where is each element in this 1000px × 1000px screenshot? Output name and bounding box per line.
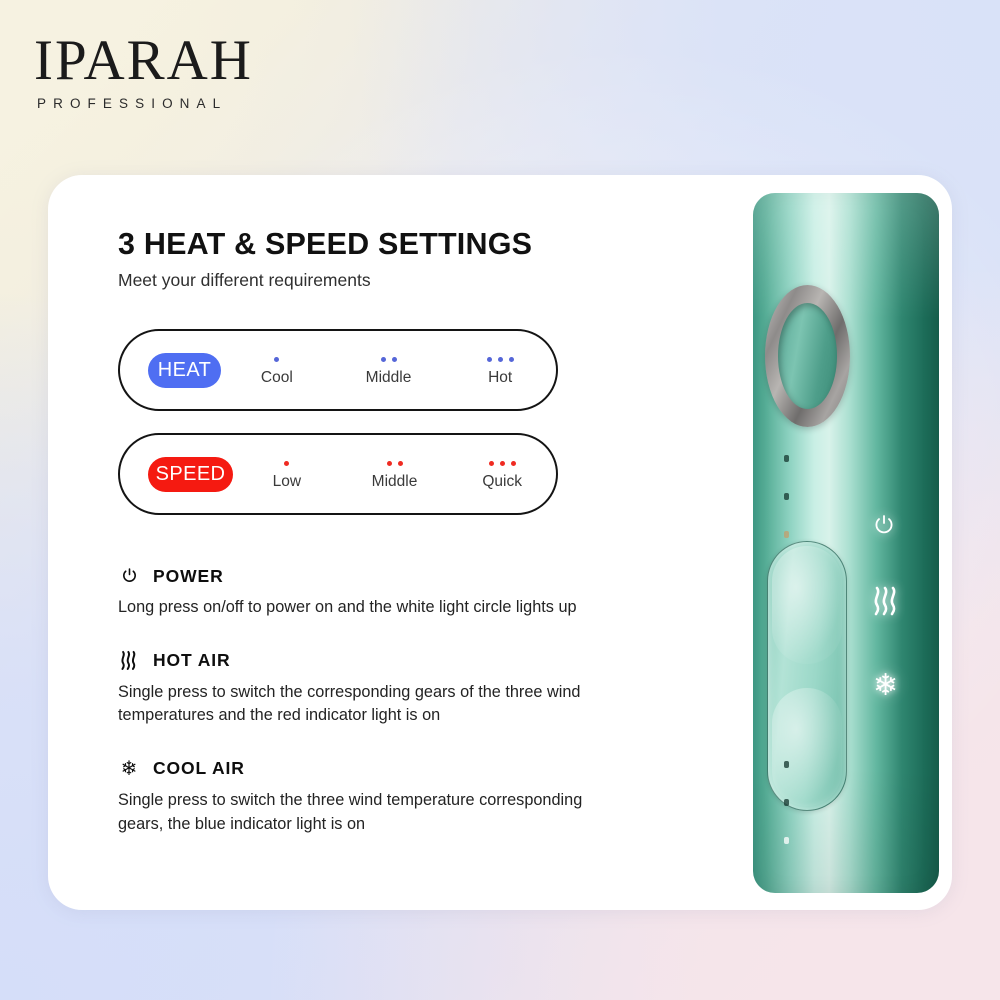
feature-header: ❄ COOL AIR: [118, 758, 638, 780]
product-indicator-dot: [784, 531, 789, 538]
feature-title: POWER: [153, 566, 224, 587]
product-image-hair-dryer: ❄: [753, 193, 939, 893]
feature-description: Single press to switch the corresponding…: [118, 681, 618, 728]
level-label: Low: [273, 473, 301, 491]
product-power-icon: [871, 513, 897, 539]
product-indicator-dot: [784, 837, 789, 844]
level-dots: [381, 354, 397, 366]
level-label: Hot: [488, 369, 512, 387]
level-label: Cool: [261, 369, 293, 387]
level-dots: [284, 458, 289, 470]
feature-hot-air: HOT AIR Single press to switch the corre…: [118, 650, 638, 728]
product-indicator-dot: [784, 799, 789, 806]
product-snowflake-icon: ❄: [873, 671, 898, 701]
feature-description: Long press on/off to power on and the wh…: [118, 596, 618, 620]
setting-row-heat: HEAT Cool Middle: [118, 329, 558, 411]
product-rocker-button[interactable]: [767, 541, 847, 811]
heat-pill-badge: HEAT: [148, 353, 221, 388]
product-power-ring: [765, 285, 850, 427]
brand-logo: IPARAH PROFESSIONAL: [34, 32, 253, 111]
page-title: 3 HEAT & SPEED SETTINGS: [118, 227, 718, 262]
product-indicator-dot: [784, 455, 789, 462]
page-subtitle: Meet your different requirements: [118, 270, 718, 291]
feature-header: POWER: [118, 565, 638, 587]
brand-name: IPARAH: [34, 32, 253, 89]
feature-title: COOL AIR: [153, 758, 245, 779]
heat-levels: Cool Middle Hot: [221, 354, 556, 387]
snowflake-icon: ❄: [118, 758, 140, 780]
level-dots: [387, 458, 403, 470]
feature-description: Single press to switch the three wind te…: [118, 789, 618, 836]
product-indicator-dot: [784, 493, 789, 500]
infographic-page: IPARAH PROFESSIONAL ❄: [0, 0, 1000, 1000]
heat-level-cool[interactable]: Cool: [221, 354, 333, 387]
card-content: 3 HEAT & SPEED SETTINGS Meet your differ…: [118, 227, 718, 836]
heat-level-middle[interactable]: Middle: [333, 354, 445, 387]
heat-waves-icon: [118, 650, 140, 672]
level-dots: [489, 458, 516, 470]
speed-levels: Low Middle Quick: [233, 458, 556, 491]
level-label: Middle: [366, 369, 412, 387]
level-dots: [274, 354, 279, 366]
feature-header: HOT AIR: [118, 650, 638, 672]
product-indicator-dot: [784, 761, 789, 768]
content-card: ❄ 3 HEAT & SPEED SETTINGS Meet your diff…: [48, 175, 952, 910]
product-heat-waves-icon: [871, 585, 901, 617]
feature-cool-air: ❄ COOL AIR Single press to switch the th…: [118, 758, 638, 836]
power-icon: [118, 565, 140, 587]
speed-pill-badge: SPEED: [148, 457, 233, 492]
speed-level-middle[interactable]: Middle: [341, 458, 449, 491]
brand-tagline: PROFESSIONAL: [37, 96, 253, 111]
setting-row-speed: SPEED Low Middle: [118, 433, 558, 515]
level-label: Middle: [372, 473, 418, 491]
feature-title: HOT AIR: [153, 650, 231, 671]
feature-power: POWER Long press on/off to power on and …: [118, 565, 638, 620]
heat-level-hot[interactable]: Hot: [444, 354, 556, 387]
speed-level-quick[interactable]: Quick: [448, 458, 556, 491]
speed-level-low[interactable]: Low: [233, 458, 341, 491]
level-label: Quick: [482, 473, 522, 491]
level-dots: [487, 354, 514, 366]
